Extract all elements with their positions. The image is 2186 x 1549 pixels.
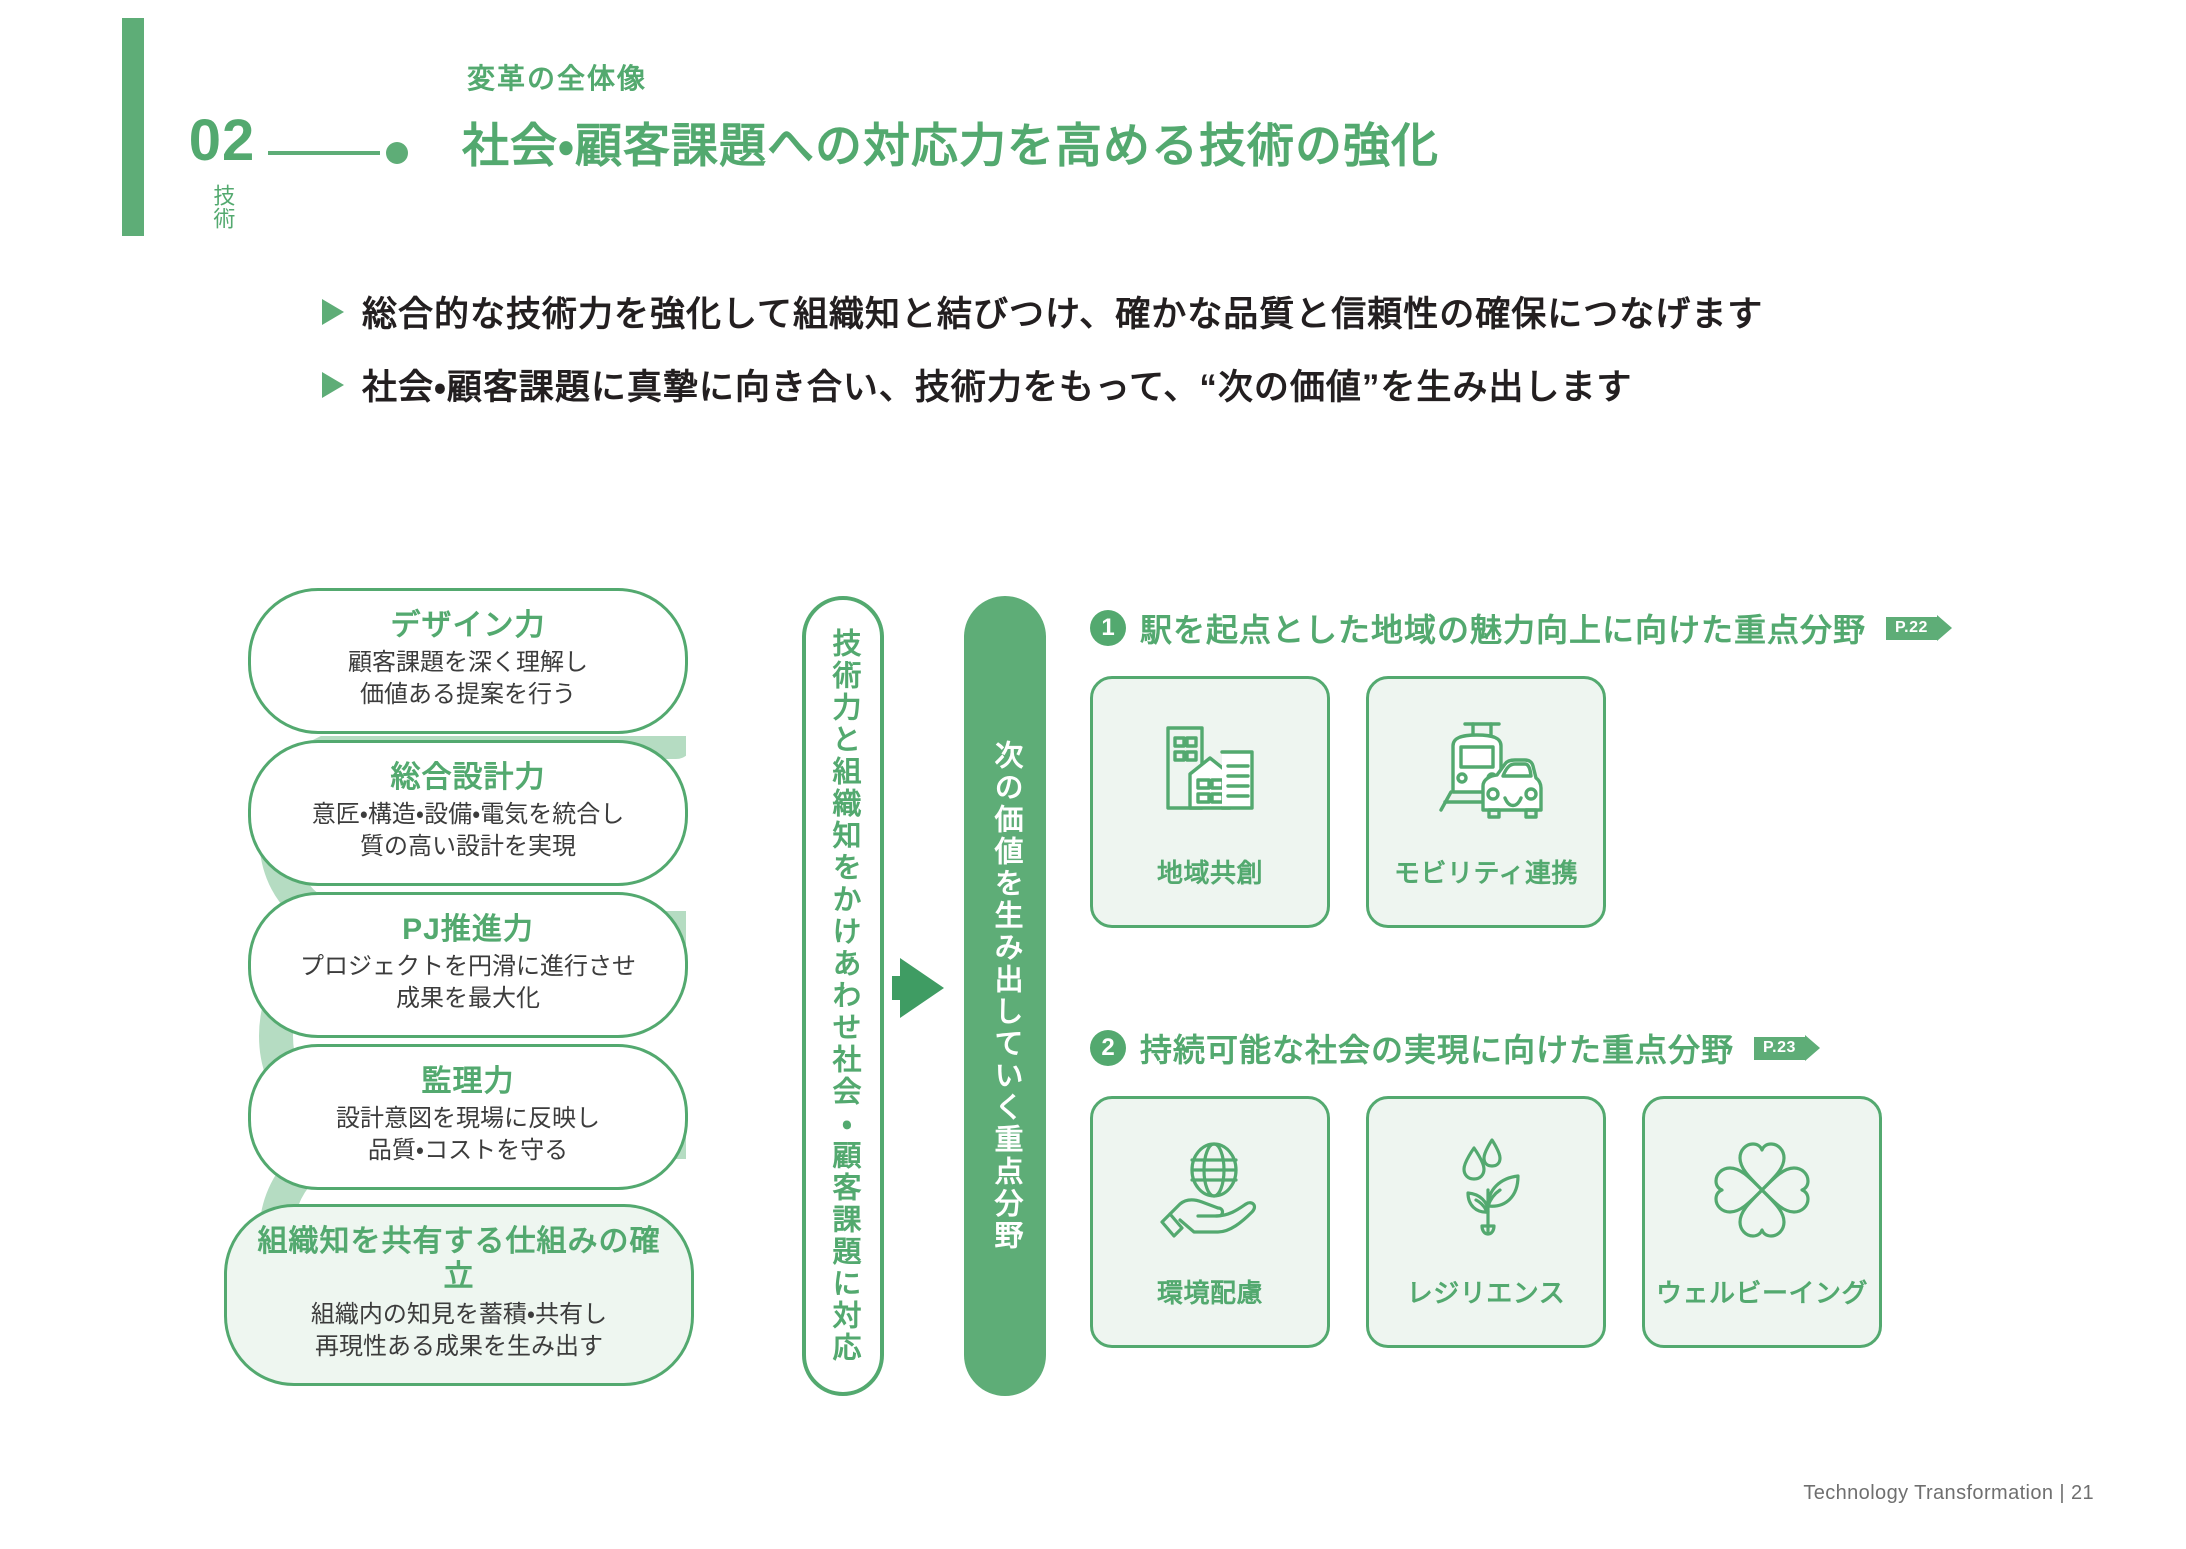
page-reference-link[interactable]: P.23 xyxy=(1754,1034,1820,1062)
connector-line xyxy=(268,151,380,155)
capability-pill-knowledge-sharing: 組織知を共有する仕組みの確立 組織内の知見を蓄積・共有し 再現性ある成果を生み出… xyxy=(224,1204,694,1386)
capability-title: 総合設計力 xyxy=(267,760,669,795)
capability-desc-line1: 意匠・構造・設備・電気を統合し xyxy=(312,801,624,828)
section-number-block: 02 技術 xyxy=(182,112,262,235)
focus-card-label: モビリティ連携 xyxy=(1394,853,1578,890)
lead-bullet-item: 総合的な技術力を強化して組織知と結びつけ、確かな品質と信頼性の確保につなげます xyxy=(322,286,2022,337)
section-vertical-label: 技術 xyxy=(210,184,235,230)
focus-group-2-header: 2 持続可能な社会の実現に向けた重点分野 P.23 xyxy=(1090,1024,1882,1072)
triangle-bullet-icon xyxy=(322,372,344,398)
capability-desc-line2: 成果を最大化 xyxy=(396,985,540,1012)
capability-title: 監理力 xyxy=(267,1064,669,1099)
focus-card-resilience[interactable]: レジリエンス xyxy=(1366,1096,1606,1348)
focus-card-label: 環境配慮 xyxy=(1157,1273,1263,1310)
leaf-water-icon xyxy=(1430,1131,1542,1249)
capability-desc: 組織内の知見を蓄積・共有し 再現性ある成果を生み出す xyxy=(243,1299,675,1363)
vertical-band-approach-text: 技術力と組織知をかけあわせ社会・顧客課題に対応 xyxy=(827,628,859,1364)
lead-bullet-list: 総合的な技術力を強化して組織知と結びつけ、確かな品質と信頼性の確保につなげます … xyxy=(322,286,2022,432)
header-accent-bar xyxy=(122,18,144,236)
capability-desc-line2: 価値ある提案を行う xyxy=(360,681,576,708)
vertical-band-value: 次の価値を生み出していく重点分野 xyxy=(964,596,1046,1396)
footer-text: Technology Transformation | 21 xyxy=(1803,1482,2094,1505)
group-title: 駅を起点とした地域の魅力向上に向けた重点分野 xyxy=(1140,605,1866,651)
connector-dot-icon xyxy=(386,142,408,164)
capability-desc-line1: プロジェクトを円滑に進行させ xyxy=(300,953,636,980)
capability-title: 組織知を共有する仕組みの確立 xyxy=(243,1224,675,1295)
focus-card-wellbeing[interactable]: ウェルビーイング xyxy=(1642,1096,1882,1348)
capability-desc-line1: 設計意図を現場に反映し xyxy=(336,1105,600,1132)
capability-pill-design: デザイン力 顧客課題を深く理解し 価値ある提案を行う xyxy=(248,588,688,734)
page-reference-arrow-icon xyxy=(1805,1035,1820,1061)
page-reference-link[interactable]: P.22 xyxy=(1886,614,1952,642)
capability-desc-line2: 質の高い設計を実現 xyxy=(360,833,576,860)
capability-stack: デザイン力 顧客課題を深く理解し 価値ある提案を行う 総合設計力 意匠・構造・設… xyxy=(248,588,723,1418)
group-number-badge: 1 xyxy=(1090,610,1126,646)
focus-card-label: レジリエンス xyxy=(1407,1273,1565,1310)
header-eyebrow: 変革の全体像 xyxy=(467,57,647,97)
focus-card-label: 地域共創 xyxy=(1157,853,1263,890)
section-number: 02 xyxy=(182,112,262,170)
capability-desc: 意匠・構造・設備・電気を統合し 質の高い設計を実現 xyxy=(267,799,669,863)
globe-hand-icon xyxy=(1154,1131,1266,1249)
capability-desc-line1: 顧客課題を深く理解し xyxy=(348,649,588,676)
focus-group-2: 2 持続可能な社会の実現に向けた重点分野 P.23 xyxy=(1090,1024,1882,1348)
focus-group-2-cards: 環境配慮 レジリエンス xyxy=(1090,1096,1882,1348)
page-reference-label: P.22 xyxy=(1886,617,1937,640)
capability-pill-pj-promotion: PJ推進力 プロジェクトを円滑に進行させ 成果を最大化 xyxy=(248,892,688,1038)
capability-pill-supervision: 監理力 設計意図を現場に反映し 品質・コストを守る xyxy=(248,1044,688,1190)
lead-bullet-text: 社会・顧客課題に真摯に向き合い、技術力をもって、“次の価値”を生み出します xyxy=(362,359,1632,410)
focus-card-mobility[interactable]: モビリティ連携 xyxy=(1366,676,1606,928)
vertical-band-value-text: 次の価値を生み出していく重点分野 xyxy=(989,740,1021,1252)
capability-pill-integrated-design: 総合設計力 意匠・構造・設備・電気を統合し 質の高い設計を実現 xyxy=(248,740,688,886)
focus-card-label: ウェルビーイング xyxy=(1656,1273,1868,1310)
focus-card-environment[interactable]: 環境配慮 xyxy=(1090,1096,1330,1348)
page-reference-arrow-icon xyxy=(1937,615,1952,641)
triangle-bullet-icon xyxy=(322,299,344,325)
focus-group-1-header: 1 駅を起点とした地域の魅力向上に向けた重点分野 P.22 xyxy=(1090,604,1952,652)
capability-desc-line1: 組織内の知見を蓄積・共有し xyxy=(311,1301,607,1328)
capability-title: デザイン力 xyxy=(267,608,669,643)
flow-arrow-icon xyxy=(900,958,944,1018)
train-car-icon xyxy=(1427,711,1545,829)
lead-bullet-text: 総合的な技術力を強化して組織知と結びつけ、確かな品質と信頼性の確保につなげます xyxy=(362,286,1763,337)
page-title: 社会・顧客課題への対応力を高める技術の強化 xyxy=(462,107,1439,176)
buildings-document-icon xyxy=(1154,711,1266,829)
capability-desc: 設計意図を現場に反映し 品質・コストを守る xyxy=(267,1103,669,1167)
capability-desc: 顧客課題を深く理解し 価値ある提案を行う xyxy=(267,647,669,711)
focus-group-1-cards: 地域共創 モビリティ連携 xyxy=(1090,676,1952,928)
clover-icon xyxy=(1706,1131,1818,1249)
page-reference-label: P.23 xyxy=(1754,1037,1805,1060)
capability-desc-line2: 再現性ある成果を生み出す xyxy=(315,1333,603,1360)
capability-desc: プロジェクトを円滑に進行させ 成果を最大化 xyxy=(267,951,669,1015)
lead-bullet-item: 社会・顧客課題に真摯に向き合い、技術力をもって、“次の価値”を生み出します xyxy=(322,359,2022,410)
focus-card-regional-cocreation[interactable]: 地域共創 xyxy=(1090,676,1330,928)
header-connector xyxy=(268,142,408,164)
group-title: 持続可能な社会の実現に向けた重点分野 xyxy=(1140,1025,1734,1071)
vertical-band-approach: 技術力と組織知をかけあわせ社会・顧客課題に対応 xyxy=(802,596,884,1396)
group-number-badge: 2 xyxy=(1090,1030,1126,1066)
capability-title: PJ推進力 xyxy=(267,912,669,947)
capability-desc-line2: 品質・コストを守る xyxy=(368,1137,568,1164)
focus-group-1: 1 駅を起点とした地域の魅力向上に向けた重点分野 P.22 xyxy=(1090,604,1952,928)
